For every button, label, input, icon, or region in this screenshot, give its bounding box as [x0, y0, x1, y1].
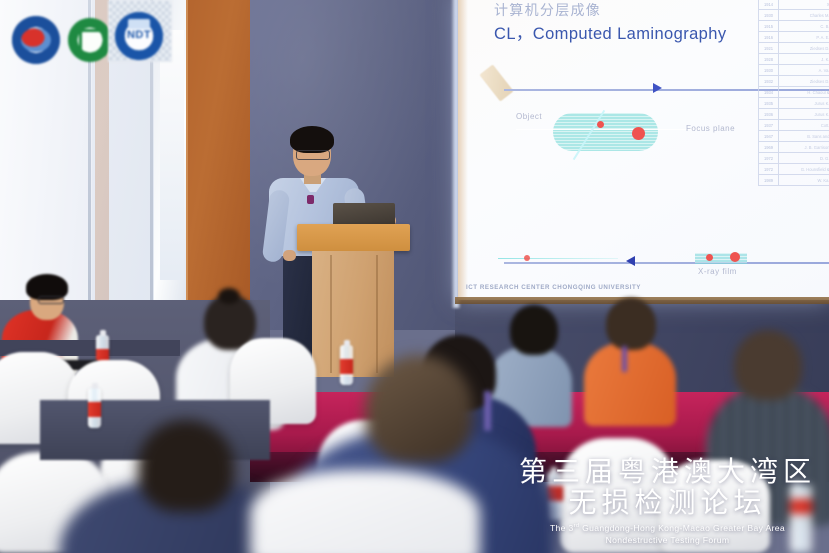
film-dot-left: [524, 255, 530, 261]
film-dot-2: [730, 252, 740, 262]
film-dot-1: [706, 254, 713, 261]
history-name: J. K.: [779, 54, 829, 65]
label-focus-plane: Focus plane: [686, 124, 735, 133]
history-name: A. Va.: [779, 65, 829, 76]
history-year: 1937: [759, 120, 779, 131]
history-year: 1936: [759, 109, 779, 120]
history-table-row: 1916P. A. E.: [759, 32, 829, 43]
window-light: [160, 30, 184, 280]
history-table-row: 1934H. Chaoul &: [759, 87, 829, 98]
history-name: X: [779, 0, 829, 10]
history-table-row: 1969J. B. Garrison: [759, 142, 829, 153]
slide-title-en: CL，Computed Laminography: [494, 20, 726, 44]
history-year: 1972: [759, 153, 779, 164]
speaker-hand-left: [283, 250, 296, 261]
speaker-hair: [290, 126, 334, 153]
history-year: 1932: [759, 76, 779, 87]
water-bottle: [88, 388, 101, 428]
speaker-glasses: [296, 150, 330, 160]
slide-footer: ICT RESEARCH CENTER CHONGQING UNIVERSITY: [466, 284, 641, 291]
history-table-row: 1937Cott.: [759, 120, 829, 131]
history-year: 1928: [759, 54, 779, 65]
history-year: 1930: [759, 10, 779, 21]
history-table-row: 1972D. G.: [759, 153, 829, 164]
history-table-row: 1930Charles M.: [759, 10, 829, 21]
podium-seam: [376, 255, 378, 373]
podium-body: [312, 251, 394, 377]
history-table-row: 1935Jurus K.: [759, 98, 829, 109]
history-year: 1935: [759, 98, 779, 109]
wood-panel-edge: [186, 0, 188, 300]
history-year: 1972: [759, 164, 779, 175]
label-object: Object: [516, 112, 542, 121]
history-name: C. B.: [779, 21, 829, 32]
water-bottle: [340, 345, 353, 385]
history-name: B. Sans and: [779, 131, 829, 142]
history-table-row: 1928J. K.: [759, 54, 829, 65]
history-table-row: 1915C. B.: [759, 21, 829, 32]
history-table-row: 1936Jurus K.: [759, 109, 829, 120]
xray-source-icon: [479, 64, 513, 101]
conference-photo: NDT 计算机分层成像 CL，Computed Laminography Obj…: [0, 0, 829, 553]
history-year: 1921: [759, 43, 779, 54]
chair: [660, 460, 770, 553]
history-name: P. A. E.: [779, 32, 829, 43]
history-table-row: 1932Ziedses D.: [759, 76, 829, 87]
podium-top: [297, 224, 410, 251]
focus-plane-line: [516, 129, 701, 130]
history-table-row: 1930A. Va.: [759, 65, 829, 76]
speaker-badge: [307, 195, 314, 204]
history-name: Ziedses D.: [779, 76, 829, 87]
label-xray-film: X-ray film: [698, 267, 737, 276]
film-ray-line: [498, 258, 618, 259]
history-name: Charles M.: [779, 10, 829, 21]
history-name: D. G.: [779, 153, 829, 164]
object-dot-large: [632, 127, 645, 140]
history-year: 1947: [759, 131, 779, 142]
institution-logo-green: [68, 18, 112, 62]
history-table: 1914X1930Charles M.1915C. B.1916P. A. E.…: [758, 0, 829, 186]
history-year: 1930: [759, 65, 779, 76]
water-bottle: [790, 485, 812, 553]
history-year: 1934: [759, 87, 779, 98]
chair-foreground: [250, 470, 480, 553]
object-dot-small: [597, 121, 604, 128]
history-name: W. Ka.: [779, 175, 829, 186]
projection-screen: 计算机分层成像 CL，Computed Laminography Object …: [458, 0, 829, 300]
history-table-row: 1989W. Ka.: [759, 175, 829, 186]
history-name: Ziedses D.: [779, 43, 829, 54]
history-name: J. B. Garrison: [779, 142, 829, 153]
history-year: 1969: [759, 142, 779, 153]
wood-panel: [186, 0, 252, 300]
history-table-body: 1914X1930Charles M.1915C. B.1916P. A. E.…: [759, 0, 829, 186]
ray-line-bottom: [504, 262, 829, 264]
history-table-row: 1947B. Sans and: [759, 131, 829, 142]
history-year: 1914: [759, 0, 779, 10]
arrow-left-icon: [626, 256, 635, 266]
history-name: Cott.: [779, 120, 829, 131]
history-year: 1989: [759, 175, 779, 186]
history-year: 1915: [759, 21, 779, 32]
history-table-row: 1921Ziedses D.: [759, 43, 829, 54]
history-name: G. Hounsfield &: [779, 164, 829, 175]
history-name: Jurus K.: [779, 98, 829, 109]
history-table-row: 1914X: [759, 0, 829, 10]
podium-seam: [330, 255, 332, 373]
history-name: H. Chaoul &: [779, 87, 829, 98]
institution-logo-blue-red: [12, 16, 60, 64]
chair: [560, 438, 676, 553]
slide-title-cn: 计算机分层成像: [494, 0, 601, 20]
history-table-row: 1972G. Hounsfield &: [759, 164, 829, 175]
history-name: Jurus K.: [779, 109, 829, 120]
history-year: 1916: [759, 32, 779, 43]
arrow-right-icon: [653, 83, 662, 93]
ndt-logo: NDT: [115, 12, 163, 60]
